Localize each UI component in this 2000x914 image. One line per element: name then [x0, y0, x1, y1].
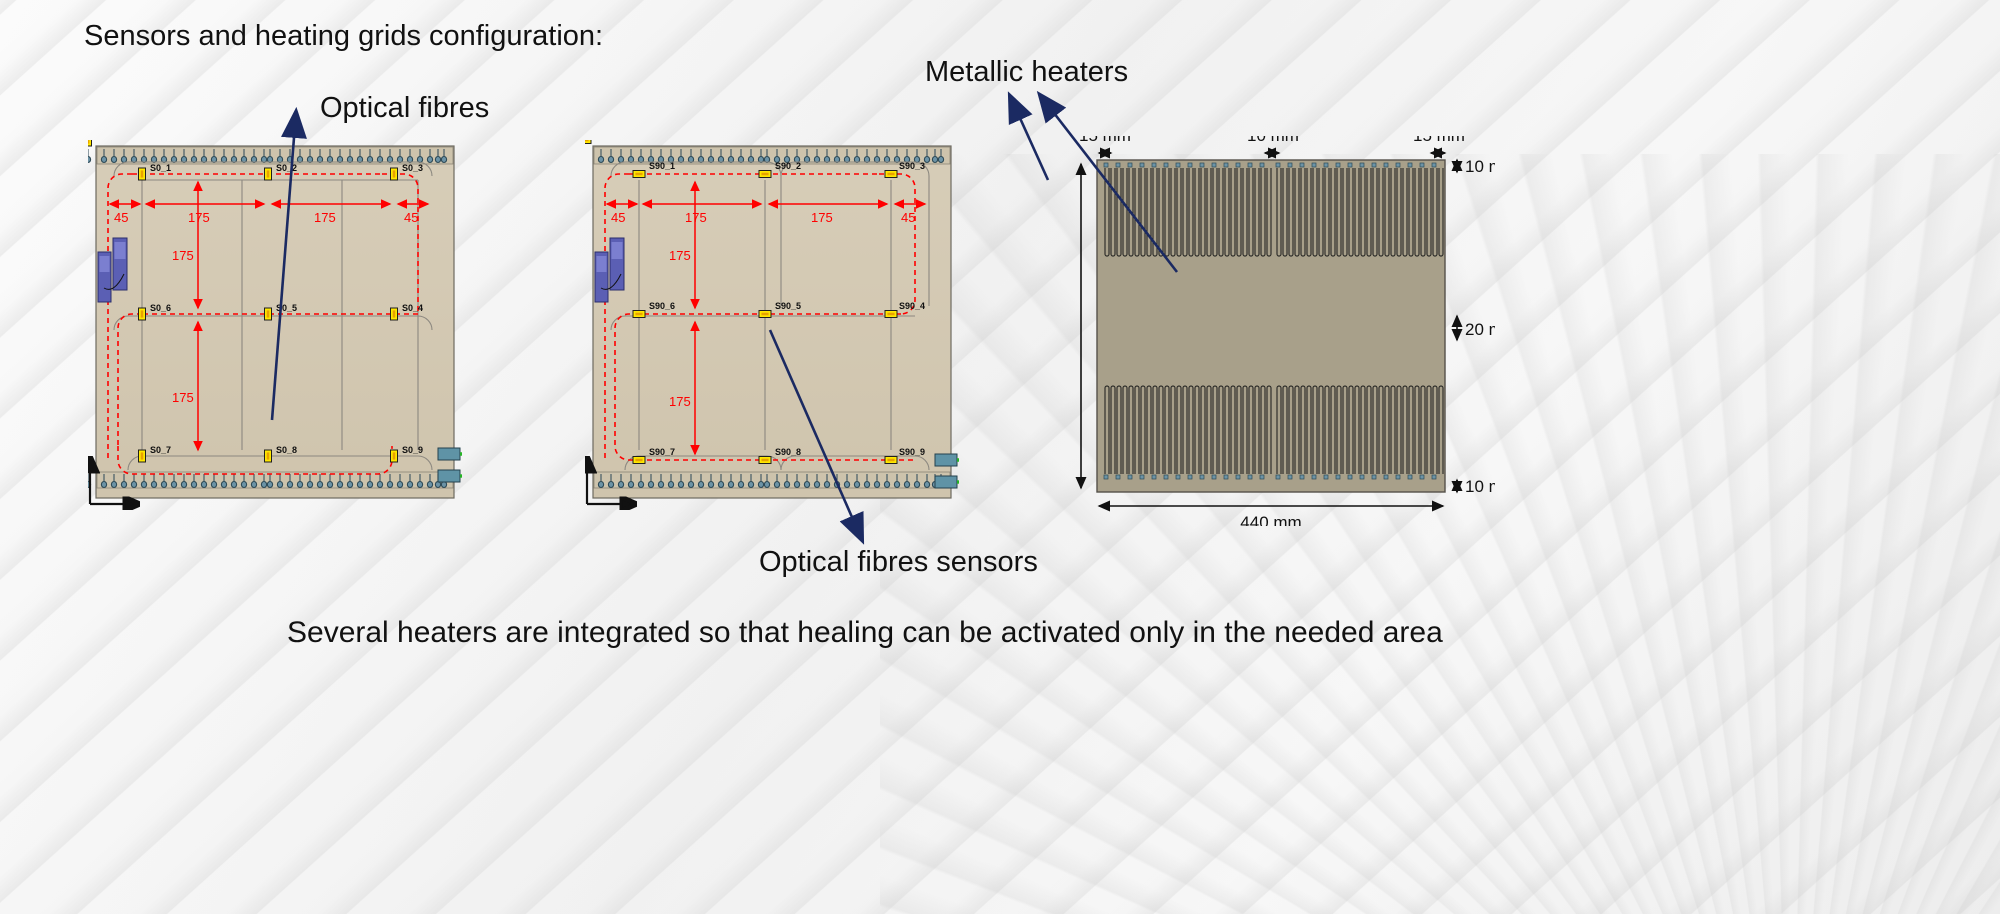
dimension-label-top-middle: 10 mm	[1247, 136, 1299, 145]
sensor-label: S90_2	[775, 161, 801, 171]
sensor-label: S90_1	[649, 161, 675, 171]
sensor-plate-s0: S0_1 S0_2 S0_3 S0_6 S0_5 S0_4 S0_7 S0_8 …	[88, 140, 462, 510]
dimension-label: 175	[811, 210, 833, 225]
dimension-label: 175	[685, 210, 707, 225]
sensor-label: S90_7	[649, 447, 675, 457]
sensor-label: S90_4	[899, 301, 925, 311]
page-title: Sensors and heating grids configuration:	[84, 20, 603, 53]
slide-caption: Several heaters are integrated so that h…	[287, 616, 1443, 650]
sensor-label: S0_2	[276, 163, 297, 173]
sensor-label: S0_4	[402, 303, 423, 313]
sensor-plate-s0-svg: S0_1 S0_2 S0_3 S0_6 S0_5 S0_4 S0_7 S0_8 …	[88, 140, 462, 510]
sensor-plate-s90-svg: S90_1 S90_2 S90_3 S90_6 S90_5 S90_4 S90_…	[585, 140, 959, 510]
sensor-label: S0_1	[150, 163, 171, 173]
dimension-label: 175	[172, 390, 194, 405]
annotation-optical-fibres-sensors: Optical fibres sensors	[759, 546, 1038, 579]
sensor-label: S0_3	[402, 163, 423, 173]
heater-plate: 440 mm 440 mm 15 mm 10 mm 15 mm 10 mm 20…	[1065, 136, 1495, 526]
annotation-metallic-heaters: Metallic heaters	[925, 56, 1128, 89]
sensor-label: S0_5	[276, 303, 297, 313]
sensor-label: S0_9	[402, 445, 423, 455]
sensor-label: S90_3	[899, 161, 925, 171]
dimension-width-label: 440 mm	[1240, 513, 1301, 526]
sensor-label: S0_6	[150, 303, 171, 313]
dimension-label-right-bottom: 10 mm	[1465, 477, 1495, 496]
dimension-label-top-right: 15 mm	[1413, 136, 1465, 145]
dimension-label-top-left: 15 mm	[1079, 136, 1131, 145]
sensor-label: S90_6	[649, 301, 675, 311]
dimension-label: 175	[188, 210, 210, 225]
dimension-label: 45	[114, 210, 128, 225]
sensor-plate-s90: S90_1 S90_2 S90_3 S90_6 S90_5 S90_4 S90_…	[585, 140, 959, 510]
dimension-label-right-top: 10 mm	[1465, 157, 1495, 176]
heater-plate-svg: 440 mm 440 mm 15 mm 10 mm 15 mm 10 mm 20…	[1065, 136, 1495, 526]
dimension-label: 175	[669, 394, 691, 409]
sensor-label: S90_9	[899, 447, 925, 457]
sensor-label: S0_8	[276, 445, 297, 455]
dimension-label: 175	[314, 210, 336, 225]
sensor-label: S90_8	[775, 447, 801, 457]
dimension-label: 45	[611, 210, 625, 225]
annotation-optical-fibres: Optical fibres	[320, 92, 489, 125]
dimension-label-right-middle: 20 mm	[1465, 320, 1495, 339]
dimension-label: 175	[172, 248, 194, 263]
sensor-label: S0_7	[150, 445, 171, 455]
dimension-label: 45	[901, 210, 915, 225]
sensor-label: S90_5	[775, 301, 801, 311]
dimension-label: 45	[404, 210, 418, 225]
dimension-label: 175	[669, 248, 691, 263]
